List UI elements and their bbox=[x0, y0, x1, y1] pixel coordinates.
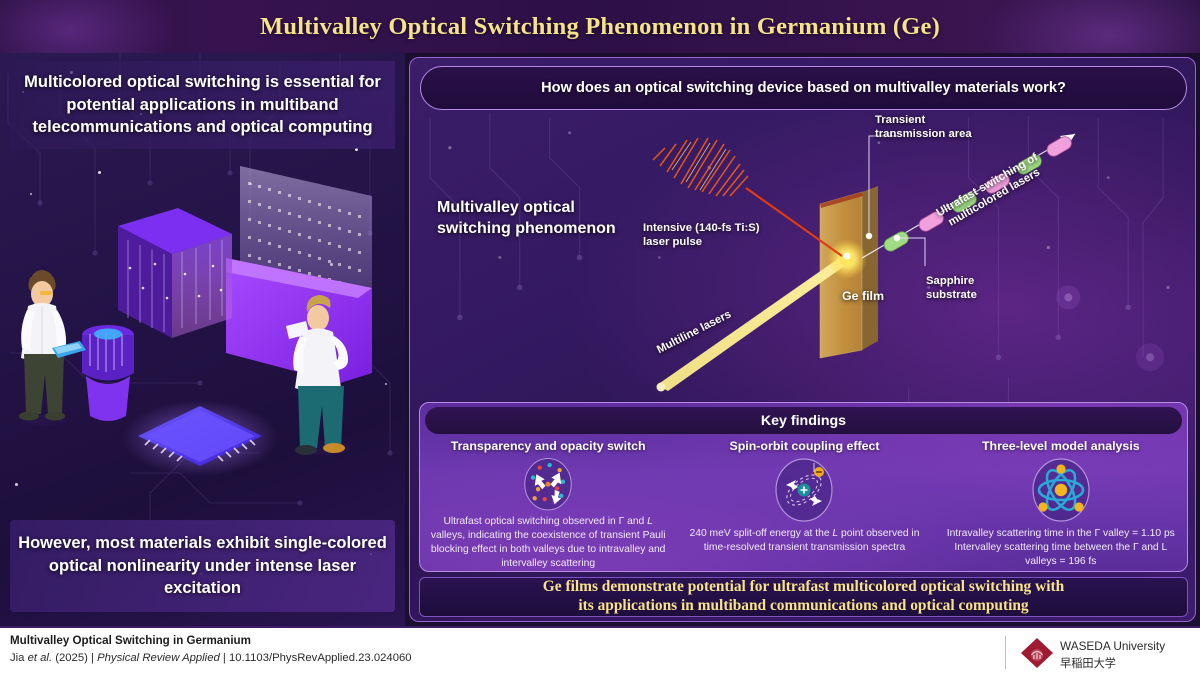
label-ge-film: Ge film bbox=[842, 289, 884, 305]
label-sapphire-substrate: Sapphire substrate bbox=[926, 274, 977, 302]
finding-column-spin-orbit: Spin-orbit coupling effect bbox=[676, 437, 932, 571]
infographic-page: Multivalley Optical Switching Phenomenon… bbox=[0, 0, 1200, 675]
page-title: Multivalley Optical Switching Phenomenon… bbox=[260, 13, 940, 41]
footer-paper-title: Multivalley Optical Switching in Germani… bbox=[10, 634, 251, 647]
label-laser-pulse: Intensive (140-fs Ti:S) laser pulse bbox=[643, 221, 760, 249]
footer-bar: Multivalley Optical Switching in Germani… bbox=[0, 626, 1200, 675]
electron-orbit-icon bbox=[772, 456, 836, 524]
label-transient-transmission-area: Transient transmission area bbox=[875, 113, 972, 141]
finding-body: 240 meV split-off energy at the L point … bbox=[684, 527, 924, 555]
finding-heading: Three-level model analysis bbox=[982, 439, 1140, 453]
question-banner: How does an optical switching device bas… bbox=[420, 66, 1187, 110]
laboratory-illustration bbox=[0, 148, 405, 513]
finding-body: Ultrafast optical switching observed in … bbox=[428, 515, 668, 571]
footer-divider bbox=[1005, 636, 1006, 669]
left-panel: Multicolored optical switching is essent… bbox=[0, 53, 405, 626]
atom-icon bbox=[1029, 456, 1093, 524]
footer-brand-jp: 早稲田大学 bbox=[1060, 655, 1116, 671]
conclusion-line-1: Ge films demonstrate potential for ultra… bbox=[543, 578, 1064, 597]
key-findings-columns: Transparency and opacity switch bbox=[420, 437, 1188, 571]
right-panel: How does an optical switching device bas… bbox=[409, 57, 1196, 622]
footer-citation: Jia et al. (2025) | Physical Review Appl… bbox=[10, 652, 412, 664]
finding-heading: Transparency and opacity switch bbox=[451, 439, 646, 453]
scientist-left bbox=[19, 270, 86, 426]
left-panel-footline: However, most materials exhibit single-c… bbox=[10, 520, 395, 612]
optical-switching-diagram bbox=[410, 110, 1196, 392]
finding-column-transparency: Transparency and opacity switch bbox=[420, 437, 676, 571]
waseda-logo-icon bbox=[1020, 637, 1054, 669]
left-panel-headline: Multicolored optical switching is essent… bbox=[10, 61, 395, 149]
conclusion-line-2: its applications in multiband communicat… bbox=[578, 597, 1028, 616]
key-findings-panel: Key findings Transparency and opacity sw… bbox=[419, 402, 1188, 572]
finding-column-three-level: Three-level model analysis bbox=[933, 437, 1188, 571]
finding-heading: Spin-orbit coupling effect bbox=[729, 439, 879, 453]
title-bar: Multivalley Optical Switching Phenomenon… bbox=[0, 0, 1200, 53]
key-findings-title: Key findings bbox=[425, 407, 1182, 434]
scattering-particles-icon bbox=[516, 456, 580, 512]
finding-body: Intravalley scattering time in the Γ val… bbox=[941, 527, 1181, 569]
conclusion-banner: Ge films demonstrate potential for ultra… bbox=[419, 577, 1188, 617]
footer-brand-en: WASEDA University bbox=[1060, 639, 1165, 653]
diagram-heading: Multivalley optical switching phenomenon bbox=[437, 198, 616, 240]
